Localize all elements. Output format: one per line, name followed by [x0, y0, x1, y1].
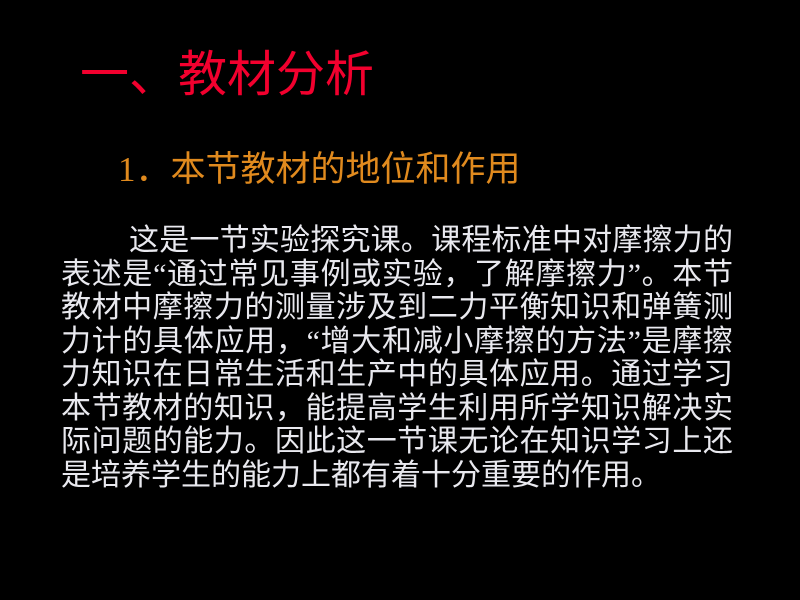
page-title: 一、教材分析 [80, 48, 374, 103]
slide-subtitle: 1．本节教材的地位和作用 [118, 150, 521, 190]
presentation-slide: 一、教材分析 1．本节教材的地位和作用 这是一节实验探究课。课程标准中对摩擦力的… [0, 0, 800, 600]
slide-body-paragraph: 这是一节实验探究课。课程标准中对摩擦力的表述是“通过常见事例或实验，了解摩擦力”… [61, 224, 733, 492]
